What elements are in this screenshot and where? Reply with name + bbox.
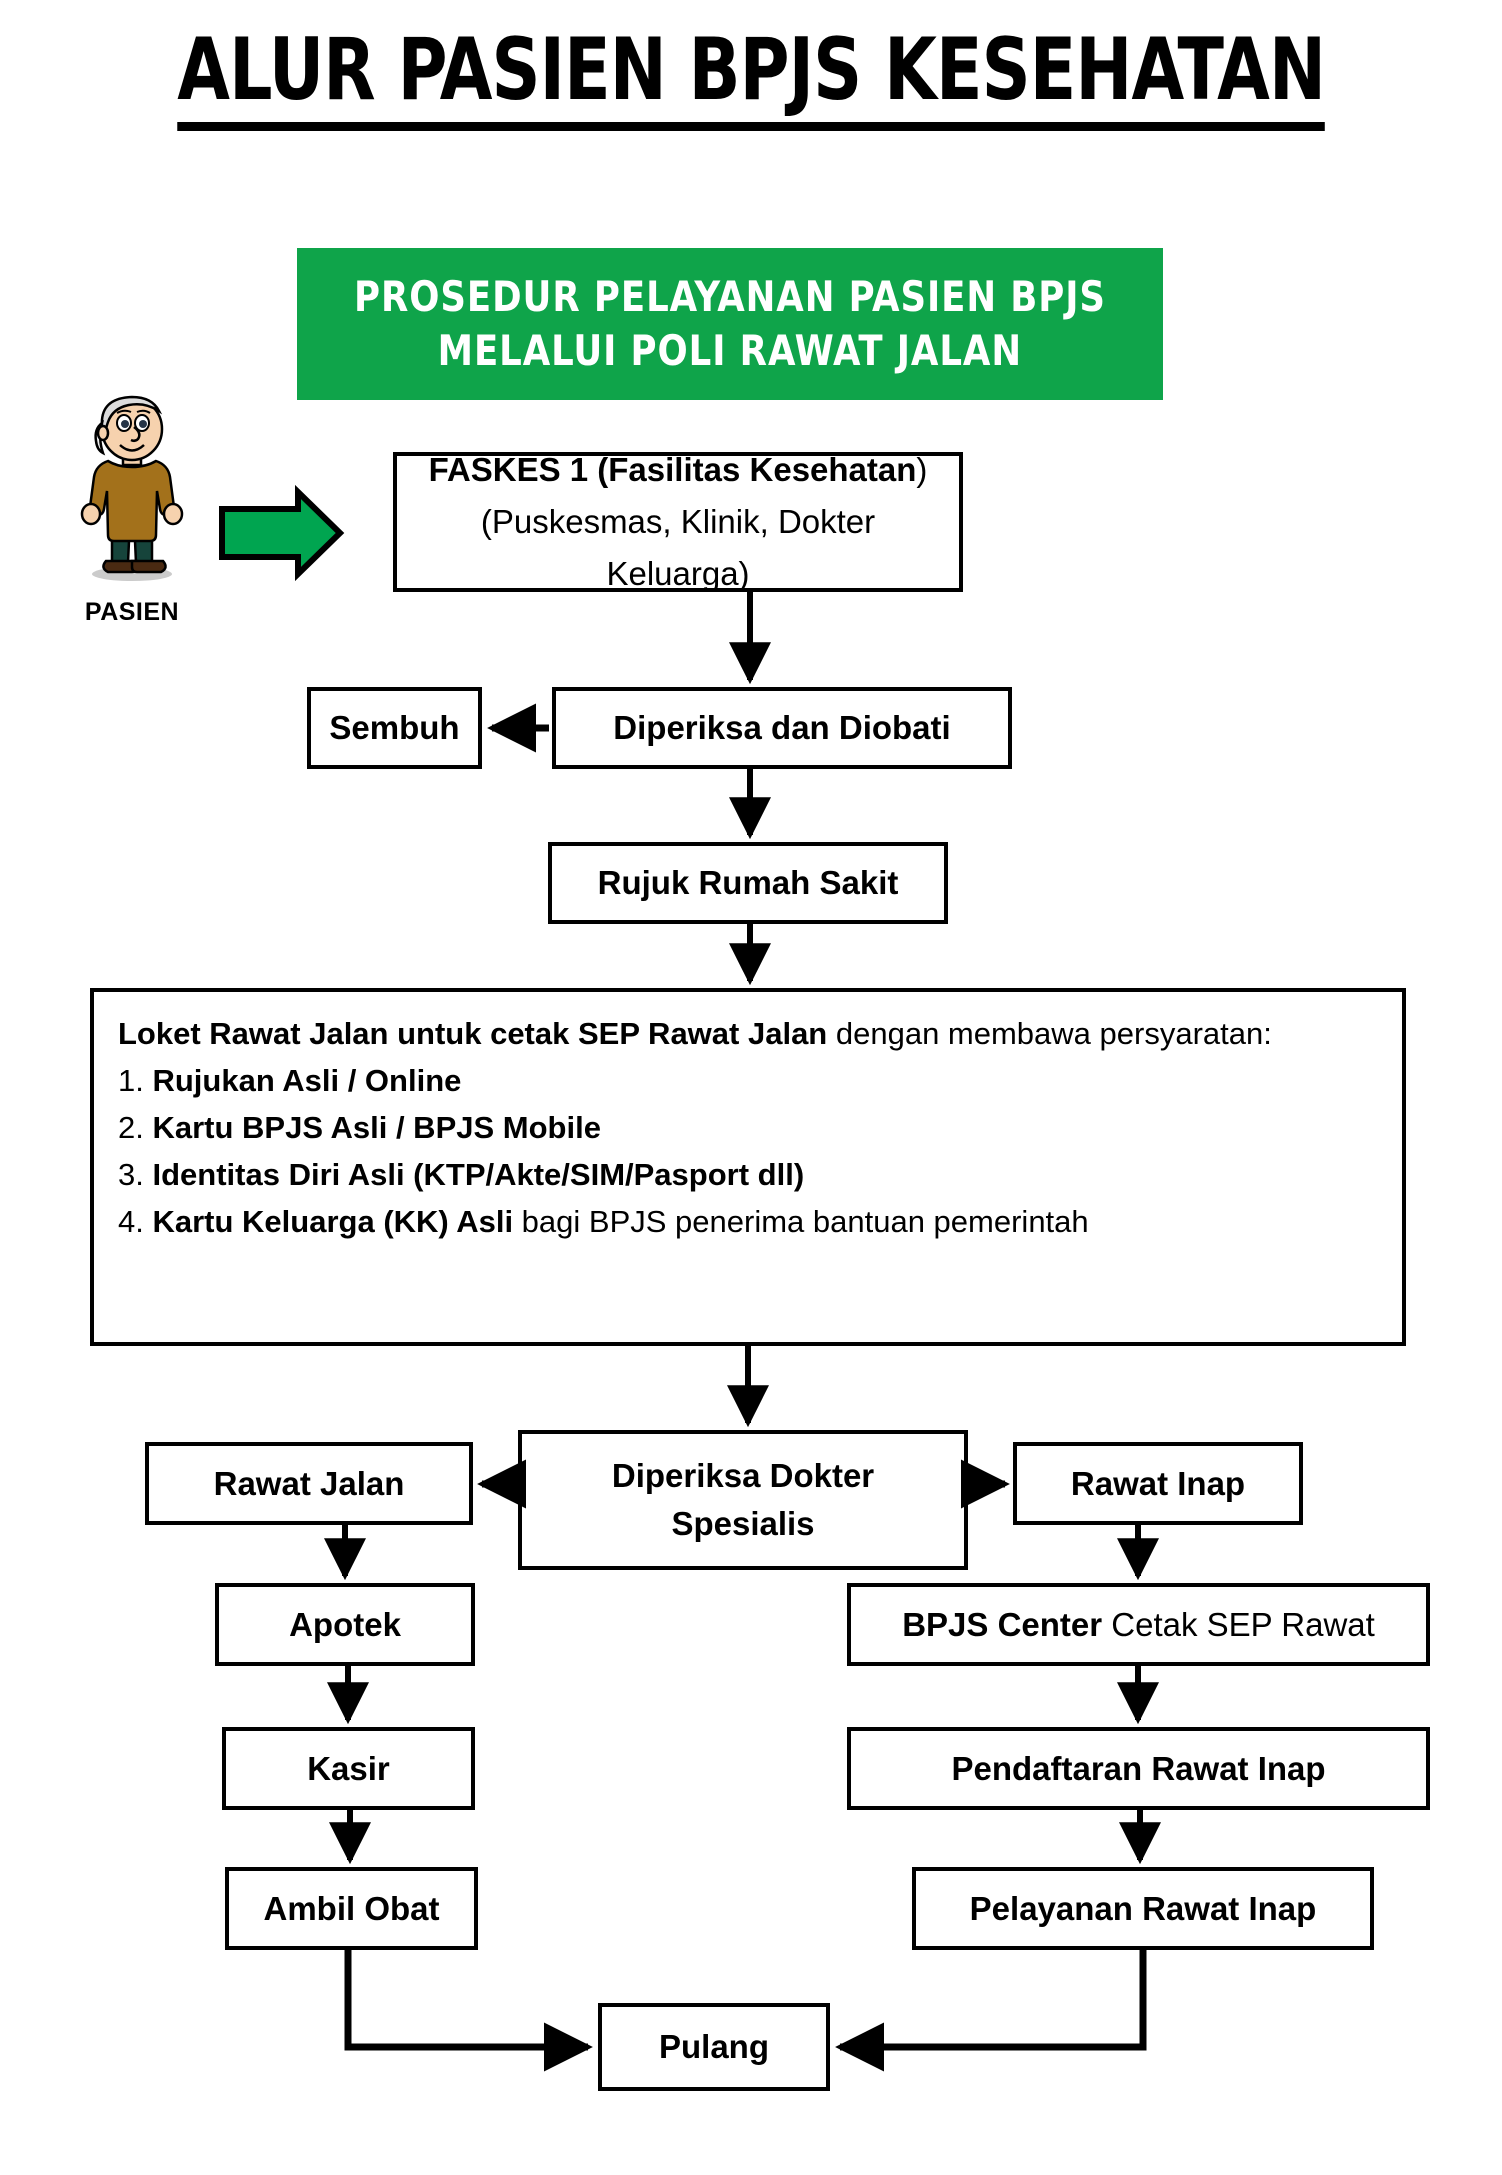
req-item-2-bold: Kartu BPJS Asli / BPJS Mobile xyxy=(152,1110,600,1145)
node-faskes-1-paren: ) xyxy=(916,451,927,488)
node-faskes-1-line-2: (Puskesmas, Klinik, Dokter Keluarga) xyxy=(405,496,951,600)
req-item-4: 4. Kartu Keluarga (KK) Asli bagi BPJS pe… xyxy=(118,1198,1380,1245)
node-faskes-1: FASKES 1 (Fasilitas Kesehatan) (Puskesma… xyxy=(393,452,963,592)
req-item-2-number: 2. xyxy=(118,1110,144,1145)
node-bpjs-center-text: BPJS Center Cetak SEP Rawat xyxy=(902,1604,1375,1646)
node-rujuk-label: Rujuk Rumah Sakit xyxy=(598,862,899,904)
node-pendaftaran-rawat-inap: Pendaftaran Rawat Inap xyxy=(847,1727,1430,1810)
node-apotek: Apotek xyxy=(215,1583,475,1666)
req-item-2: 2. Kartu BPJS Asli / BPJS Mobile xyxy=(118,1104,1380,1151)
req-item-1: 1. Rujukan Asli / Online xyxy=(118,1057,1380,1104)
node-pendaftaran-label: Pendaftaran Rawat Inap xyxy=(951,1748,1325,1790)
node-ambil-obat: Ambil Obat xyxy=(225,1867,478,1950)
req-item-3-number: 3. xyxy=(118,1157,144,1192)
node-dokter-line-1: Diperiksa Dokter xyxy=(612,1452,874,1500)
edge-ambil-obat-to-pulang xyxy=(348,1950,588,2047)
node-diperiksa-dokter-spesialis: Diperiksa Dokter Spesialis xyxy=(518,1430,968,1570)
banner-line-2: MELALUI POLI RAWAT JALAN xyxy=(438,324,1022,378)
req-lead-bold: Loket Rawat Jalan untuk cetak SEP Rawat … xyxy=(118,1016,827,1051)
node-apotek-label: Apotek xyxy=(289,1604,401,1646)
node-rawat-jalan: Rawat Jalan xyxy=(145,1442,473,1525)
flowchart-page: ALUR PASIEN BPJS KESEHATAN PROSEDUR PELA… xyxy=(0,0,1502,2175)
node-pulang: Pulang xyxy=(598,2003,830,2091)
node-faskes-1-bold: FASKES 1 (Fasilitas Kesehatan xyxy=(429,451,917,488)
req-lead-rest: dengan membawa persyaratan: xyxy=(827,1016,1272,1051)
node-pelayanan-label: Pelayanan Rawat Inap xyxy=(970,1888,1317,1930)
elderly-patient-icon xyxy=(62,393,202,583)
node-rujuk-rumah-sakit: Rujuk Rumah Sakit xyxy=(548,842,948,924)
node-sembuh-label: Sembuh xyxy=(329,707,459,749)
green-right-arrow-icon xyxy=(222,492,340,574)
procedure-banner: PROSEDUR PELAYANAN PASIEN BPJS MELALUI P… xyxy=(297,248,1163,400)
req-item-1-number: 1. xyxy=(118,1063,144,1098)
node-faskes-1-line-1: FASKES 1 (Fasilitas Kesehatan) xyxy=(429,444,928,496)
req-item-3-bold: Identitas Diri Asli (KTP/Akte/SIM/Paspor… xyxy=(152,1157,804,1192)
req-item-4-bold: Kartu Keluarga (KK) Asli xyxy=(152,1204,513,1239)
patient-label: PASIEN xyxy=(62,598,202,627)
req-lead: Loket Rawat Jalan untuk cetak SEP Rawat … xyxy=(118,1010,1380,1057)
node-kasir-label: Kasir xyxy=(307,1748,390,1790)
req-item-3: 3. Identitas Diri Asli (KTP/Akte/SIM/Pas… xyxy=(118,1151,1380,1198)
req-item-4-rest: bagi BPJS penerima bantuan pemerintah xyxy=(513,1204,1089,1239)
node-bpjs-center: BPJS Center Cetak SEP Rawat xyxy=(847,1583,1430,1666)
node-diperiksa-diobati-label: Diperiksa dan Diobati xyxy=(613,707,950,749)
node-rawat-inap: Rawat Inap xyxy=(1013,1442,1303,1525)
banner-line-1: PROSEDUR PELAYANAN PASIEN BPJS xyxy=(354,270,1106,324)
node-rawat-inap-label: Rawat Inap xyxy=(1071,1463,1245,1505)
node-rawat-jalan-label: Rawat Jalan xyxy=(214,1463,405,1505)
req-item-1-bold: Rujukan Asli / Online xyxy=(152,1063,461,1098)
node-ambil-obat-label: Ambil Obat xyxy=(263,1888,439,1930)
edge-pelayanan-to-pulang xyxy=(840,1950,1143,2047)
node-kasir: Kasir xyxy=(222,1727,475,1810)
page-title: ALUR PASIEN BPJS KESEHATAN xyxy=(0,22,1502,131)
node-dokter-line-2: Spesialis xyxy=(671,1500,814,1548)
node-loket-rawat-jalan: Loket Rawat Jalan untuk cetak SEP Rawat … xyxy=(90,988,1406,1346)
page-title-text: ALUR PASIEN BPJS KESEHATAN xyxy=(177,22,1325,131)
node-bpjs-center-rest: Cetak SEP Rawat xyxy=(1102,1606,1375,1643)
node-sembuh: Sembuh xyxy=(307,687,482,769)
node-diperiksa-diobati: Diperiksa dan Diobati xyxy=(552,687,1012,769)
node-bpjs-center-bold: BPJS Center xyxy=(902,1606,1102,1643)
node-pulang-label: Pulang xyxy=(659,2026,769,2068)
req-item-4-number: 4. xyxy=(118,1204,144,1239)
node-pelayanan-rawat-inap: Pelayanan Rawat Inap xyxy=(912,1867,1374,1950)
req-list: 1. Rujukan Asli / Online 2. Kartu BPJS A… xyxy=(118,1057,1380,1245)
